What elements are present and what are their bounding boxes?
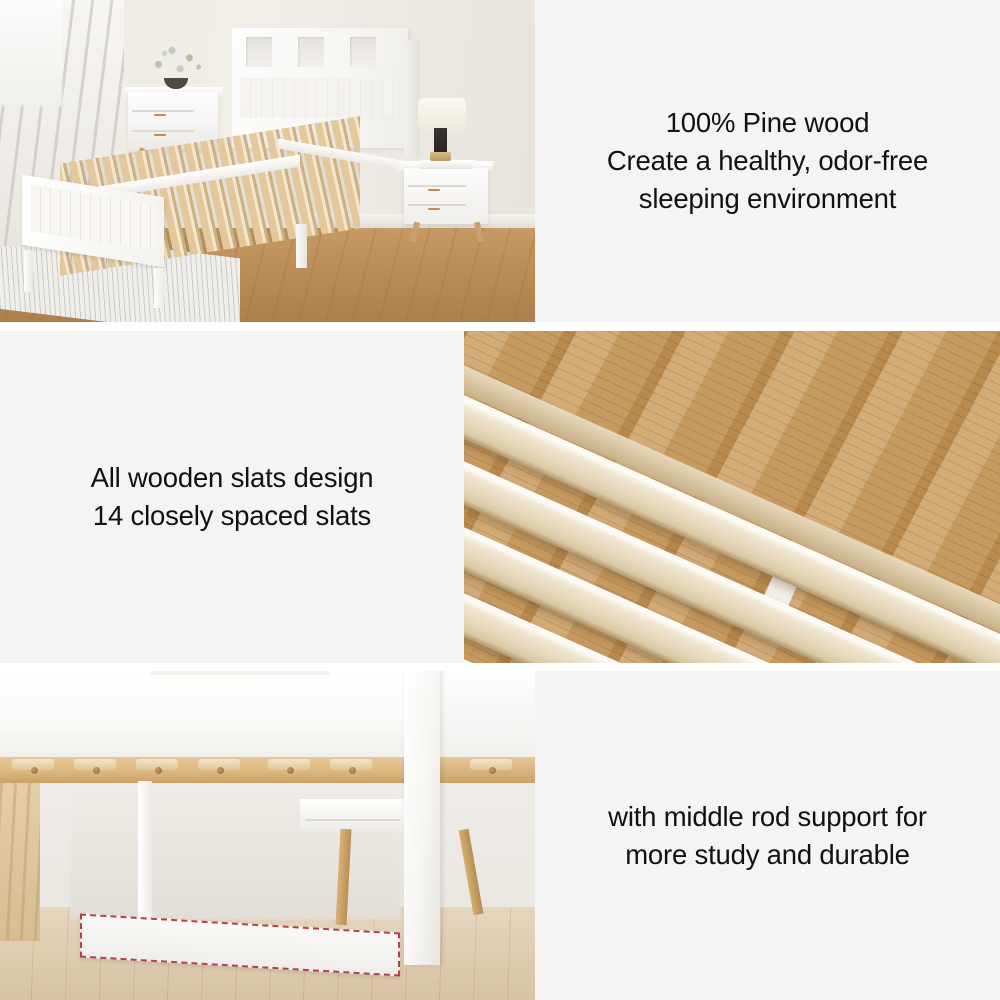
middle-rod-support-image — [0, 671, 535, 1000]
bedroom-bed-frame-scene-image — [0, 0, 535, 322]
panel-3: with middle rod support for more study a… — [0, 671, 1000, 1000]
panel-1-text: 100% Pine wood Create a healthy, odor-fr… — [535, 0, 1000, 322]
headboard-post — [404, 40, 420, 158]
screw-head — [287, 767, 294, 774]
bedroom-scene-illustration — [0, 0, 535, 322]
product-infographic: 100% Pine wood Create a healthy, odor-fr… — [0, 0, 1000, 1000]
bed-center-leg — [296, 224, 307, 268]
footboard-leg — [154, 268, 164, 308]
lamp-shade — [418, 98, 466, 130]
screw-head — [489, 767, 496, 774]
screw-head — [93, 767, 100, 774]
middle-rod-illustration — [0, 671, 535, 1000]
window-light — [0, 0, 62, 106]
panel-2: All wooden slats design 14 closely space… — [0, 331, 1000, 663]
nightstand-right — [404, 168, 488, 224]
panel-3-caption: with middle rod support for more study a… — [590, 798, 945, 874]
lamp-base — [430, 152, 451, 161]
panel-1: 100% Pine wood Create a healthy, odor-fr… — [0, 0, 1000, 322]
nightstand — [300, 799, 405, 831]
screw-head — [217, 767, 224, 774]
slats-closeup-image — [464, 331, 1000, 663]
slats-closeup-illustration — [464, 331, 1000, 663]
screw-head — [349, 767, 356, 774]
panel-2-text: All wooden slats design 14 closely space… — [0, 331, 464, 663]
screw-head — [31, 767, 38, 774]
curtain — [0, 781, 40, 941]
bed-leg-front — [404, 671, 440, 965]
footboard-leg — [24, 250, 33, 292]
panel-1-caption: 100% Pine wood Create a healthy, odor-fr… — [589, 104, 946, 218]
nightstand-drawer-line — [305, 819, 400, 821]
book — [419, 160, 476, 169]
panel-2-caption: All wooden slats design 14 closely space… — [73, 459, 392, 535]
screw-head — [155, 767, 162, 774]
bed-frame-underside — [0, 671, 410, 761]
panel-3-text: with middle rod support for more study a… — [535, 671, 1000, 1000]
frame-top-gap — [150, 671, 330, 675]
bed-frame-far-section — [440, 671, 535, 761]
plant-foliage — [146, 38, 208, 82]
